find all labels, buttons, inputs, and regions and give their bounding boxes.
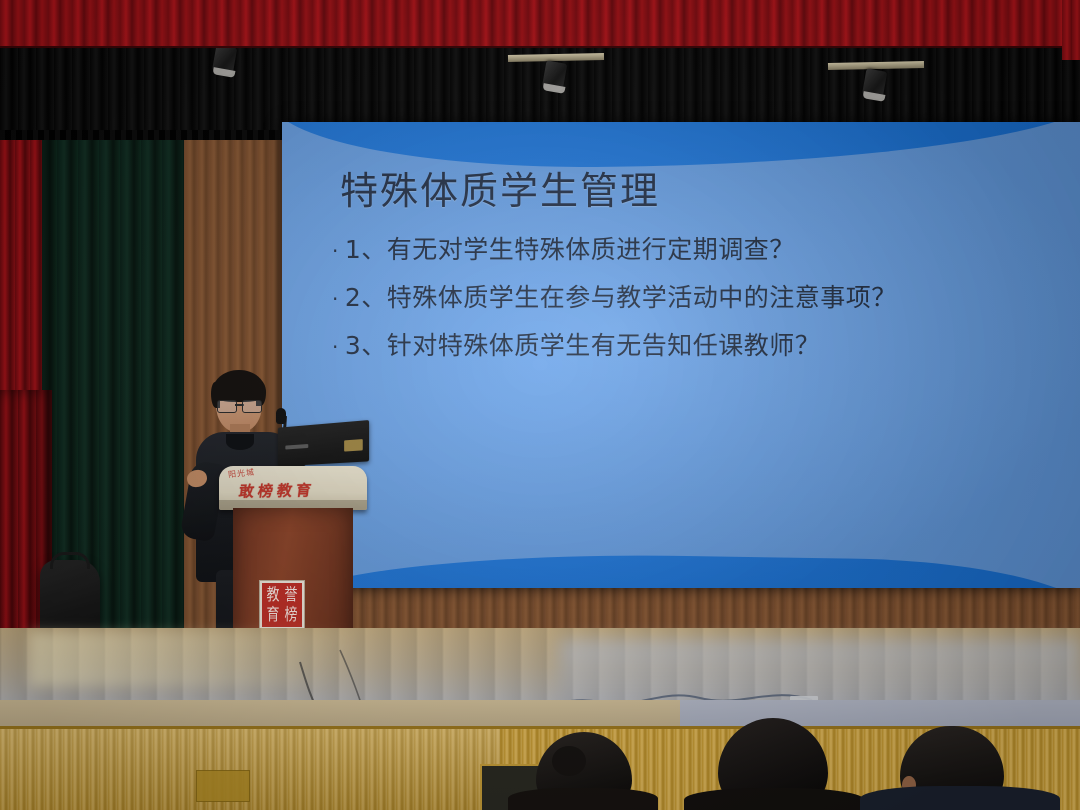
slide-bullet-item: · 3、 针对特殊体质学生有无告知任课教师？: [332, 326, 1052, 362]
projection-screen: 特殊体质学生管理 · 1、 有无对学生特殊体质进行定期调查？ · 2、 特殊体质…: [282, 122, 1080, 588]
laptop-brand-mark: [285, 444, 308, 450]
speaker-collar: [226, 434, 254, 450]
microphone-icon: [276, 408, 286, 424]
laptop-device: [276, 424, 368, 468]
slide-bullet-item: · 1、 有无对学生特殊体质进行定期调查？: [332, 230, 1052, 266]
audience-shoulders: [684, 788, 864, 810]
podium-desktop: 阳光城 敢榜教育: [219, 466, 367, 510]
stage-light-fixture: [860, 66, 890, 100]
audience-shoulders: [508, 788, 658, 810]
podium-banner-small-text: 阳光城: [227, 467, 255, 481]
stage-front-left-shadow: [0, 729, 500, 810]
bullet-number: 3、: [345, 326, 387, 362]
stage-valance-red: [0, 0, 1080, 48]
slide-decor-wave-bottom: [282, 549, 1080, 588]
bullet-marker-icon: ·: [332, 241, 339, 261]
seal-char: 誉: [284, 587, 297, 603]
glasses-icon: [217, 400, 262, 412]
bullet-number: 2、: [345, 278, 387, 314]
presentation-slide: 特殊体质学生管理 · 1、 有无对学生特殊体质进行定期调查？ · 2、 特殊体质…: [282, 122, 1080, 588]
bullet-text: 特殊体质学生在参与教学活动中的注意事项？: [387, 278, 897, 314]
audience-shoulders: [860, 786, 1060, 810]
slide-title: 特殊体质学生管理: [340, 160, 660, 215]
bag-handle: [50, 552, 90, 569]
bullet-marker-icon: ·: [332, 337, 339, 357]
glasses-lens-left: [217, 400, 237, 413]
audience-hair-bun: [552, 746, 586, 776]
bullet-text: 有无对学生特殊体质进行定期调查？: [387, 230, 795, 266]
stage-light-fixture: [540, 58, 570, 92]
auditorium-presentation-photo: 特殊体质学生管理 · 1、 有无对学生特殊体质进行定期调查？ · 2、 特殊体质…: [0, 0, 1080, 810]
laptop-badge-sticker: [344, 439, 363, 452]
bullet-marker-icon: ·: [332, 289, 339, 309]
valance-right-edge: [1062, 0, 1080, 60]
slide-bullet-list: · 1、 有无对学生特殊体质进行定期调查？ · 2、 特殊体质学生在参与教学活动…: [332, 230, 1052, 374]
bullet-text: 针对特殊体质学生有无告知任课教师？: [387, 326, 821, 362]
podium-banner-text: 敢榜教育: [238, 479, 317, 501]
seal-char: 教: [266, 587, 279, 603]
stage-front-plaque: [196, 770, 250, 802]
glasses-lens-right: [242, 400, 262, 413]
laptop-lid: [278, 420, 369, 466]
bullet-number: 1、: [345, 230, 387, 266]
slide-bullet-item: · 2、 特殊体质学生在参与教学活动中的注意事项？: [332, 278, 1052, 314]
